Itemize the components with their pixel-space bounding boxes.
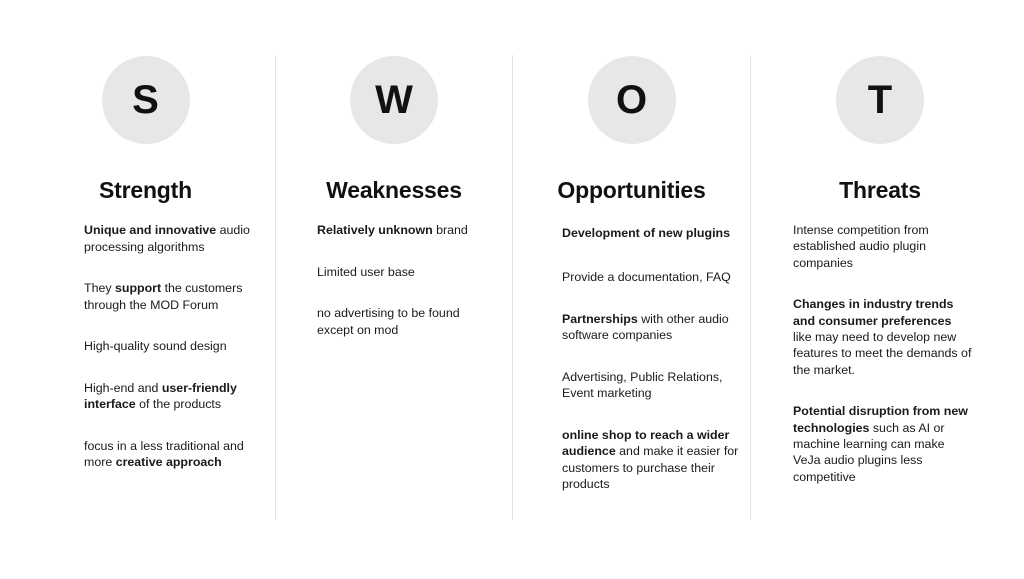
letter-badge-s: S	[102, 56, 190, 144]
list-item: focus in a less traditional and more cre…	[84, 438, 264, 471]
list-item: Intense competition from established aud…	[793, 222, 973, 271]
list-item: Relatively unknown brand	[317, 222, 497, 239]
point-bold: Partnerships	[562, 312, 638, 326]
list-item: online shop to reach a wider audience an…	[562, 427, 742, 493]
column-body-opportunities: Development of new plugins Provide a doc…	[562, 222, 742, 522]
point-bold: user-friendly interface	[84, 381, 237, 412]
badge-wrap-strength: S	[16, 56, 275, 144]
point-rest: Provide a documentation, FAQ	[562, 270, 731, 284]
badge-wrap-opportunities: O	[513, 56, 750, 144]
point-bold: Potential disruption from new technologi…	[793, 404, 968, 434]
list-item: They support the customers through the M…	[84, 280, 264, 313]
badge-letter-s: S	[132, 80, 159, 120]
swot-board: S Strength Unique and innovative audio p…	[0, 0, 1024, 579]
badge-letter-t: T	[868, 80, 892, 120]
letter-badge-w: W	[350, 56, 438, 144]
column-heading-strength: Strength	[16, 177, 275, 204]
list-item: Partnerships with other audio software c…	[562, 311, 742, 344]
badge-wrap-weaknesses: W	[276, 56, 512, 144]
column-heading-threats: Threats	[751, 177, 1009, 204]
swot-column-opportunities: O Opportunities Development of new plugi…	[513, 0, 750, 579]
swot-column-threats: T Threats Intense competition from estab…	[751, 0, 1009, 579]
list-item: Changes in industry trends and consumer …	[793, 296, 973, 378]
point-bold: online shop to reach a wider audience	[562, 428, 729, 459]
point-rest: High-quality sound design	[84, 339, 227, 353]
list-item: Provide a documentation, FAQ	[562, 269, 742, 286]
point-bold: Changes in industry trends and consumer …	[793, 297, 953, 327]
list-item: Potential disruption from new technologi…	[793, 403, 973, 485]
point-rest: no advertising to be found except on mod	[317, 306, 460, 337]
point-rest: brand	[433, 223, 468, 237]
list-item: Advertising, Public Relations, Event mar…	[562, 369, 742, 402]
point-bold: support	[115, 281, 161, 295]
point-bold: Development of new plugins	[562, 226, 730, 240]
list-item: Development of new plugins	[562, 222, 742, 244]
list-item: High-end and user-friendly interface of …	[84, 380, 264, 413]
list-item: High-quality sound design	[84, 338, 264, 355]
list-item: no advertising to be found except on mod	[317, 305, 497, 338]
point-bold: Relatively unknown	[317, 223, 433, 237]
badge-letter-w: W	[375, 80, 413, 120]
column-body-weaknesses: Relatively unknown brand Limited user ba…	[317, 222, 497, 522]
column-body-threats: Intense competition from established aud…	[793, 222, 973, 522]
point-bold: creative approach	[116, 455, 222, 469]
list-item: Unique and innovative audio processing a…	[84, 222, 264, 255]
point-rest: Advertising, Public Relations, Event mar…	[562, 370, 722, 401]
letter-badge-o: O	[588, 56, 676, 144]
swot-column-weaknesses: W Weaknesses Relatively unknown brand Li…	[276, 0, 512, 579]
swot-column-strength: S Strength Unique and innovative audio p…	[16, 0, 275, 579]
column-body-strength: Unique and innovative audio processing a…	[84, 222, 264, 522]
list-item: Limited user base	[317, 264, 497, 281]
point-rest: Limited user base	[317, 265, 415, 279]
column-heading-weaknesses: Weaknesses	[276, 177, 512, 204]
badge-letter-o: O	[616, 80, 647, 120]
point-rest: Intense competition from established aud…	[793, 223, 929, 270]
column-heading-opportunities: Opportunities	[513, 177, 750, 204]
point-bold: Unique and innovative	[84, 223, 216, 237]
letter-badge-t: T	[836, 56, 924, 144]
badge-wrap-threats: T	[751, 56, 1009, 144]
